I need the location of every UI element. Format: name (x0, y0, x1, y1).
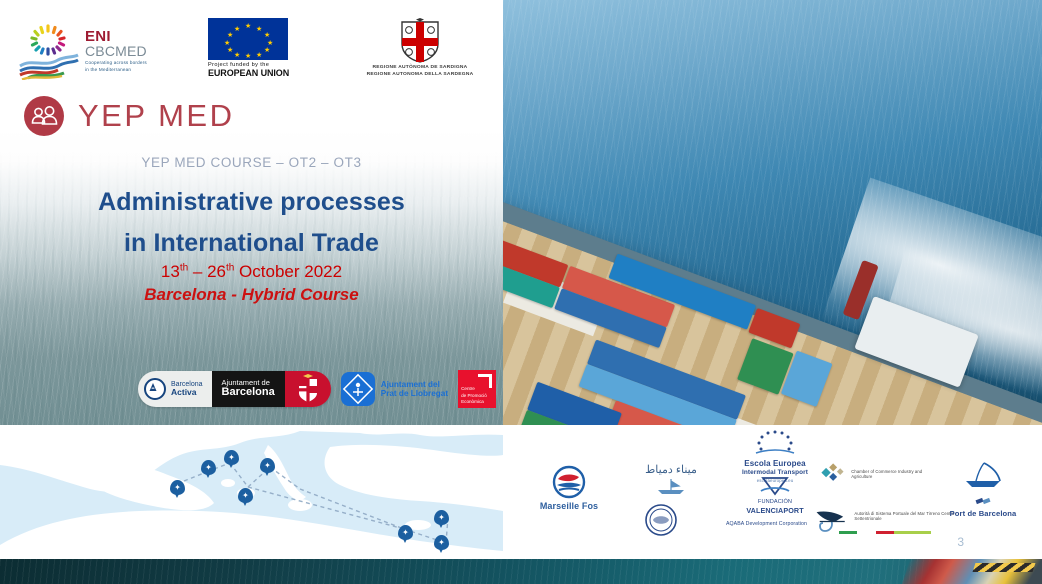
partner-damietta-port: ميناء دمياط (621, 463, 721, 495)
eu-caption-large: EUROPEAN UNION (208, 68, 296, 78)
prat-line1: Ajuntament del (381, 380, 448, 389)
page-title-line1: Administrative processes (0, 188, 503, 217)
mediterranean-map: ✦ ✦ ✦ ✦ ✦ ✦ ✦ ✦ (0, 425, 503, 559)
partner-logos-panel: Marseille Fos ميناء دمياط (503, 425, 1042, 559)
escola-europea-stars-icon (746, 429, 804, 459)
bottom-water-texture (0, 559, 1042, 584)
title-panel: ENI CBCMED Cooperating across borders in… (0, 0, 503, 425)
date-start: 13 (161, 262, 180, 281)
damietta-port-icon (654, 477, 688, 495)
supporter-logos-strip: Barcelona Activa Ajuntament de Barcelona (138, 370, 496, 408)
port-de-barcelona-mark-icon (974, 495, 992, 507)
ajuntament-barcelona-logo: Ajuntament de Barcelona (212, 371, 285, 407)
barcelona-logos-pill: Barcelona Activa Ajuntament de Barcelona (138, 371, 331, 407)
barcelona-activa-logo: Barcelona Activa (138, 371, 212, 407)
eni-sun-waves-icon (18, 22, 80, 80)
italy-flag-bar (839, 531, 931, 534)
barcelona-activa-icon (144, 378, 166, 400)
marseille-fos-icon (546, 465, 592, 499)
cpe-line3: Econòmica (461, 399, 487, 405)
map-pin-beirut[interactable]: ✦ (434, 510, 449, 525)
port-de-barcelona-icon (956, 459, 1010, 493)
course-dates: 13th – 26th October 2022 (0, 262, 503, 282)
sardinia-shield-icon (397, 18, 443, 64)
chamber-of-commerce-label: Chamber of Commerce Industry and Agricul… (851, 469, 939, 480)
funder-logos-row: ENI CBCMED Cooperating across borders in… (0, 16, 503, 82)
map-pin-valencia[interactable]: ✦ (238, 488, 253, 503)
eu-flag-icon: ★ ★ ★ ★ ★ ★ ★ ★ ★ ★ ★ ★ (208, 18, 288, 60)
regione-sardegna-logo: REGIONE AUTÒNOMA DE SARDIGNA REGIONE AUT… (350, 18, 490, 82)
barcelona-activa-line2: Activa (171, 388, 203, 397)
page-number: 3 (957, 535, 964, 549)
map-pin-genoa[interactable]: ✦ (224, 450, 239, 465)
eni-tagline-2: in the Mediterranean (85, 67, 147, 73)
bottom-water-bar (0, 559, 1042, 584)
marseille-fos-label: Marseille Fos (523, 501, 615, 513)
partner-autorita-sistema-portuale: Autorità di Sistema Portuale del Mar Tir… (815, 503, 955, 534)
valenciaport-label: FUNDACIÓN (727, 499, 823, 506)
ajuntament-bcn-line2: Barcelona (222, 387, 275, 399)
autorita-portuale-icon (815, 503, 849, 529)
map-pin-damietta[interactable]: ✦ (398, 525, 413, 540)
slide-root: ENI CBCMED Cooperating across borders in… (0, 0, 1042, 584)
yep-med-brand: YEP MED (24, 96, 234, 136)
partner-fundacion-valenciaport: FUNDACIÓN VALENCIAPORT (727, 475, 823, 516)
sardegna-caption-2: REGIONE AUTONOMA DELLA SARDEGNA (350, 71, 490, 78)
barcelona-coat-of-arms-icon (285, 371, 331, 407)
sardegna-caption-1: REGIONE AUTÒNOMA DE SARDIGNA (350, 64, 490, 71)
course-location: Barcelona - Hybrid Course (0, 285, 503, 305)
eni-subtitle: CBCMED (85, 44, 147, 58)
bottom-hazard-stripe (973, 563, 1036, 572)
eni-title: ENI (85, 29, 147, 44)
eni-cbcmed-logo: ENI CBCMED Cooperating across borders in… (18, 20, 188, 82)
valenciaport-icon (755, 475, 795, 499)
yep-med-wordmark: YEP MED (78, 98, 234, 134)
map-pin-marseille[interactable]: ✦ (201, 460, 216, 475)
title-block: YEP MED COURSE – OT2 – OT3 Administrativ… (0, 155, 503, 305)
page-title-line2: in International Trade (0, 229, 503, 258)
eni-tagline-1: Cooperating across borders (85, 60, 147, 66)
arab-academy-seal-icon (644, 503, 678, 537)
container-ship-photo (503, 0, 1042, 425)
prat-line2: Prat de Llobregat (381, 389, 448, 398)
cpe-line2: de Promoció (461, 393, 487, 399)
map-pin-aqaba[interactable]: ✦ (434, 535, 449, 550)
centre-promocio-economica-logo: Centre de Promoció Econòmica (458, 370, 496, 408)
damietta-port-label: ميناء دمياط (621, 463, 721, 476)
european-union-logo: ★ ★ ★ ★ ★ ★ ★ ★ ★ ★ ★ ★ Project funded b… (208, 18, 296, 82)
two-people-icon (24, 96, 64, 136)
escola-europea-label: Escola Europea (715, 459, 835, 469)
chamber-of-commerce-icon (819, 461, 847, 487)
partner-chamber-of-commerce: Chamber of Commerce Industry and Agricul… (819, 461, 939, 487)
course-kicker: YEP MED COURSE – OT2 – OT3 (0, 155, 503, 170)
partner-arab-academy (631, 503, 691, 537)
partner-marseille-fos: Marseille Fos (523, 465, 615, 513)
prat-diamond-icon (341, 372, 375, 406)
map-pin-civitavecchia[interactable]: ✦ (260, 458, 275, 473)
map-pin-barcelona[interactable]: ✦ (170, 480, 185, 495)
ajuntament-del-prat-logo: Ajuntament del Prat de Llobregat (341, 372, 448, 406)
date-separator: – 26 (188, 262, 226, 281)
port-de-barcelona-label: Port de Barcelona (935, 509, 1031, 519)
date-start-ordinal: th (180, 262, 188, 273)
aqaba-label: AQABA Development Corporation (726, 521, 807, 528)
partner-port-de-barcelona: Port de Barcelona (935, 459, 1031, 519)
date-month-year: October 2022 (234, 262, 342, 281)
eni-text-block: ENI CBCMED Cooperating across borders in… (85, 29, 147, 72)
